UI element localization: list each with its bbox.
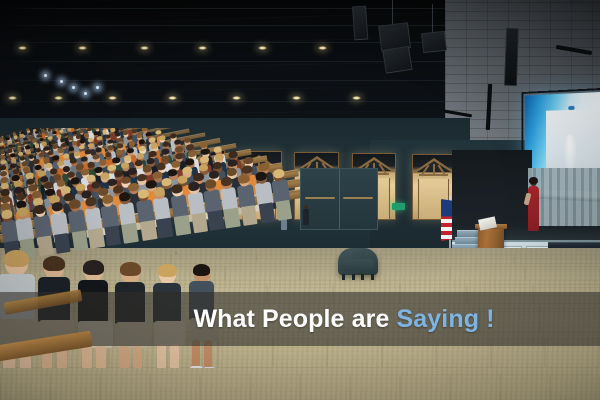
audience-hair: [112, 157, 120, 164]
audience-hair: [23, 137, 27, 140]
ceiling-downlight: [108, 96, 117, 100]
ceiling-downlight: [292, 96, 301, 100]
audience-legs: [275, 200, 292, 221]
floor-tile: [500, 374, 550, 400]
caption-white-text: What People are: [193, 305, 389, 333]
student-leg: [170, 344, 179, 368]
audience-hair: [52, 131, 56, 134]
speaker-on-stage: [527, 178, 542, 232]
ceiling-downlight: [318, 46, 327, 50]
audience-legs: [104, 225, 121, 246]
audience-legs: [223, 207, 240, 228]
audience-hair: [49, 168, 57, 175]
hanging-speaker: [382, 46, 412, 74]
noop: [175, 252, 177, 254]
audience-hair: [35, 148, 41, 152]
floor-tile: [450, 374, 500, 400]
student-hair: [158, 264, 177, 277]
audience-hair: [48, 136, 53, 140]
audience-hair: [204, 179, 216, 189]
audience-hair: [186, 144, 194, 151]
audience-legs: [54, 233, 71, 254]
ceiling-downlight: [8, 96, 17, 100]
ceiling-downlight: [168, 96, 177, 100]
audience-hair: [272, 169, 284, 179]
audience-legs: [140, 220, 157, 241]
audience-hair: [99, 159, 107, 166]
wall-speaker: [504, 28, 519, 86]
student-leg: [133, 346, 142, 368]
ceiling-downlight: [258, 46, 267, 50]
floor-tile: [375, 266, 450, 281]
audience-hair: [68, 199, 80, 209]
ceiling-downlight: [198, 46, 207, 50]
armchair: [338, 248, 378, 275]
audience-legs: [121, 223, 138, 244]
caption-title: What People are Saying !: [193, 305, 494, 334]
floor-tile: [450, 266, 525, 281]
audience-hair: [149, 150, 157, 157]
floor-tile: [525, 266, 600, 281]
audience-hair: [16, 207, 28, 217]
ceiling-downlight: [54, 96, 63, 100]
center-double-doors: [300, 168, 378, 230]
student-hair: [120, 262, 140, 276]
audience-hair: [88, 137, 94, 141]
audience-hair: [0, 176, 8, 183]
hanging-speaker: [421, 31, 447, 53]
audience-hair: [37, 134, 41, 137]
audience-hair: [171, 184, 183, 194]
audience-legs: [207, 210, 224, 231]
audience-hair: [10, 153, 16, 157]
floor-tile: [0, 374, 50, 400]
standing-person: [303, 205, 310, 227]
audience-hair: [44, 146, 50, 150]
floor-tile: [150, 374, 200, 400]
audience-hair: [29, 136, 33, 139]
audience-legs: [258, 202, 275, 223]
student-leg: [96, 346, 106, 368]
audience-hair: [175, 146, 183, 153]
audience-hair: [118, 192, 130, 202]
floor-tile: [250, 374, 300, 400]
american-flag-icon: [441, 199, 452, 241]
audience-hair: [59, 129, 63, 132]
audience-hair: [105, 134, 111, 138]
audience-hair: [56, 134, 61, 138]
audience-hair: [75, 163, 83, 170]
audience-hair: [0, 155, 6, 159]
audience-legs: [156, 217, 173, 238]
floor-tile: [200, 374, 250, 400]
audience-hair: [14, 139, 18, 142]
audience-hair: [123, 131, 129, 135]
audience-hair: [87, 161, 95, 168]
floor-tile: [100, 374, 150, 400]
audience-hair: [238, 174, 250, 184]
student-leg: [157, 344, 166, 368]
student-hair: [4, 250, 29, 267]
floor-tile: [550, 374, 600, 400]
student-hair: [193, 264, 210, 276]
gable-beam: [419, 174, 448, 176]
stage-spotlight: [84, 92, 87, 95]
audience-hair: [25, 172, 33, 179]
audience-hair: [101, 194, 113, 204]
student-hair: [83, 260, 104, 275]
student-shoe: [190, 366, 202, 368]
audience-hair: [1, 209, 13, 219]
audience-hair: [0, 142, 4, 145]
audience-hair: [51, 202, 63, 212]
speaker-rod: [392, 0, 393, 26]
student-leg: [120, 346, 129, 368]
ceiling-downlight: [78, 46, 87, 50]
audience-legs: [174, 215, 191, 236]
student-shoe: [203, 367, 215, 368]
student-hair: [43, 256, 65, 271]
audience-legs: [241, 205, 258, 226]
audience-legs: [72, 230, 89, 251]
audience-hair: [85, 197, 97, 207]
audience-hair: [79, 139, 85, 143]
floor-tile: [350, 374, 400, 400]
caption-highlight-text: Saying !: [397, 305, 495, 333]
student-leg: [82, 346, 92, 368]
floor-tile: [50, 374, 100, 400]
ceiling-downlight: [352, 96, 361, 100]
audience-hair: [61, 143, 67, 147]
audience-hair: [44, 133, 48, 136]
audience-hair: [97, 136, 103, 140]
speaker-rod: [432, 4, 433, 34]
audience-hair: [26, 150, 32, 154]
audience-hair: [62, 166, 70, 173]
hanging-speaker: [352, 6, 368, 41]
stage-spotlight: [72, 86, 75, 89]
stage-spotlight: [96, 86, 99, 89]
ceiling-downlight: [232, 96, 241, 100]
audience-legs: [88, 228, 105, 249]
audience-hair: [136, 153, 144, 160]
audience-hair: [71, 141, 77, 145]
audience-hair: [137, 189, 149, 199]
audience-hair: [200, 141, 208, 148]
audience-legs: [191, 212, 208, 233]
floor-tile: [514, 254, 600, 264]
exit-sign-icon: [392, 203, 405, 210]
floor-tile: [300, 374, 350, 400]
stage-spotlight: [60, 80, 63, 83]
ceiling-downlight: [18, 46, 27, 50]
audience-hair: [161, 148, 169, 155]
stage-spotlight: [44, 74, 47, 77]
audience-hair: [142, 128, 148, 131]
ceiling-downlight: [140, 46, 149, 50]
audience-hair: [79, 129, 84, 133]
floor-tile: [400, 374, 450, 400]
auditorium-photo: What People are Saying !: [0, 0, 600, 400]
floor-tile: [429, 254, 515, 264]
